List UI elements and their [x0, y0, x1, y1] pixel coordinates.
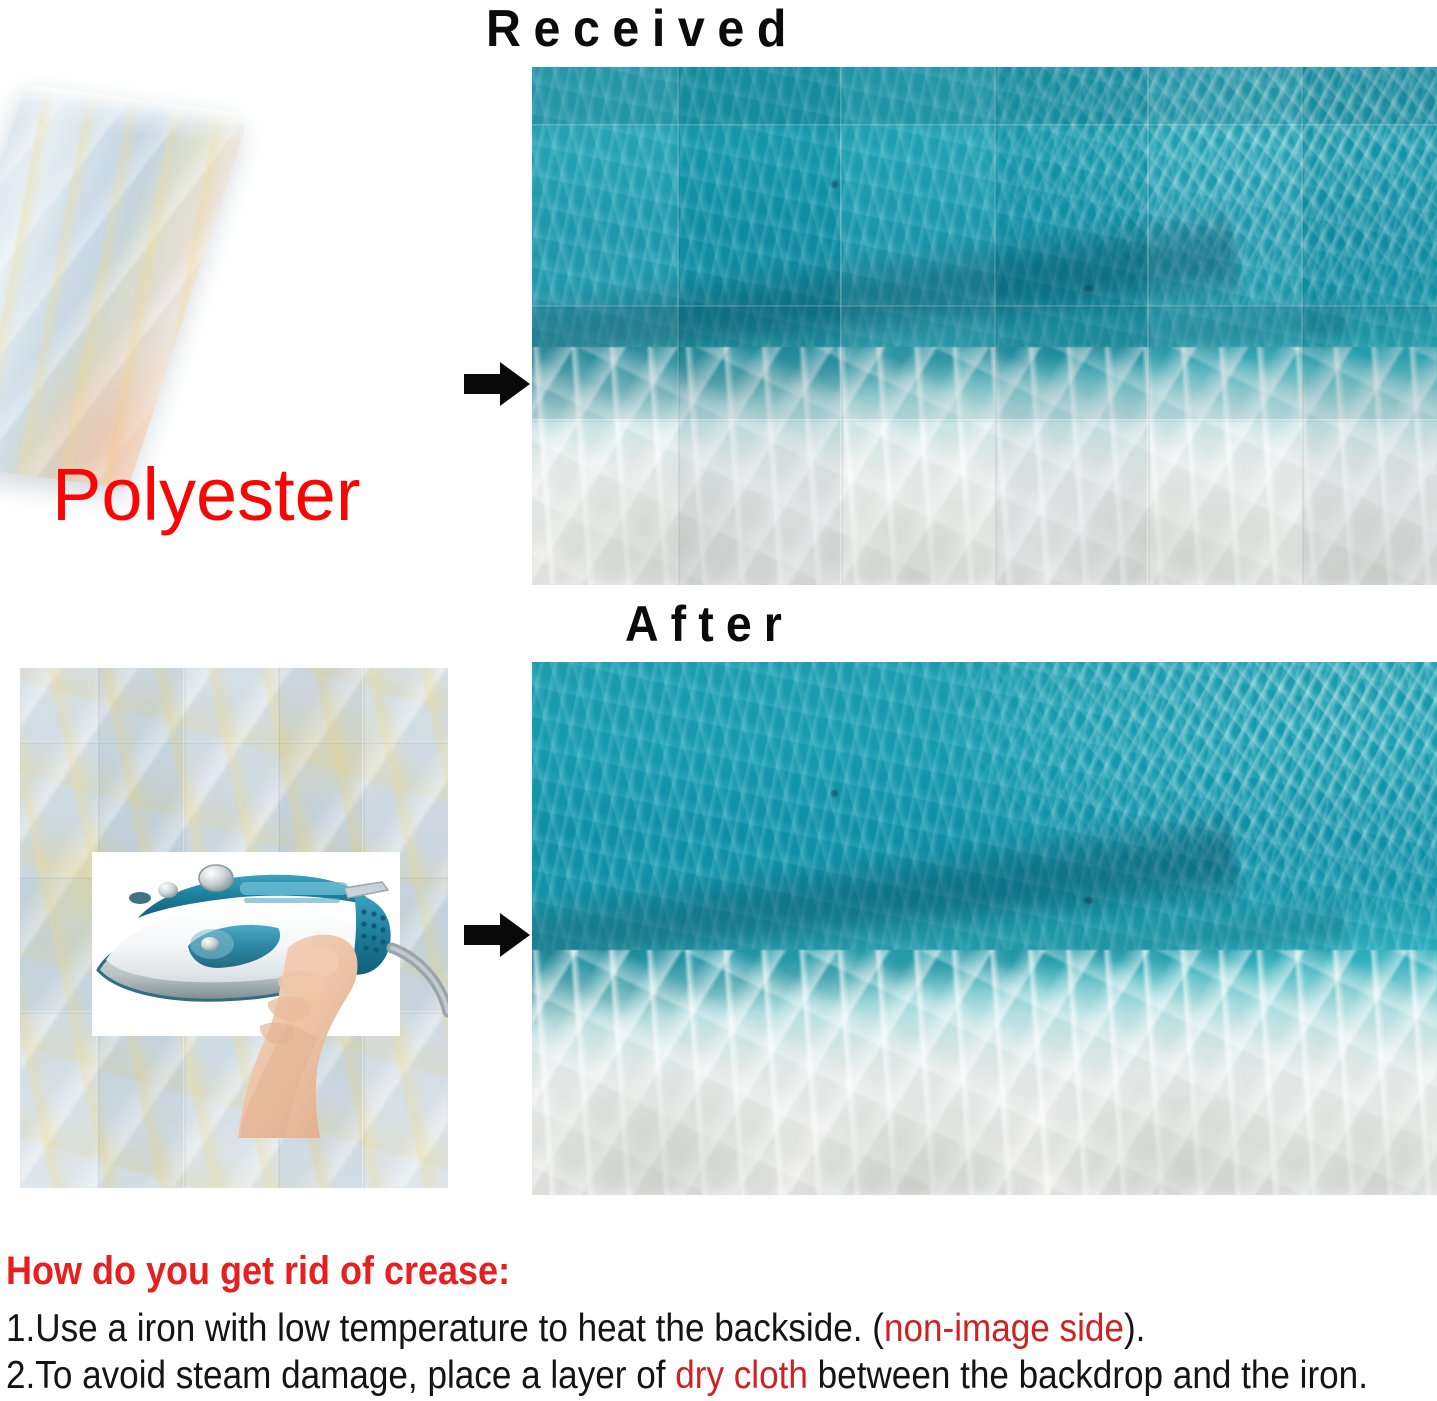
iron-illustration — [92, 852, 400, 1036]
instruction-2-suffix: between the backdrop and the iron. — [808, 1354, 1368, 1397]
iron-indicator-light — [129, 892, 151, 904]
iron-and-hand-icon — [92, 852, 400, 1112]
steam-iron-inset — [92, 852, 400, 1036]
water-speck — [831, 790, 838, 797]
fabric-sheet — [0, 84, 250, 489]
after-backdrop-photo — [532, 662, 1437, 1195]
received-heading: Received — [486, 1, 799, 57]
polyester-fabric-roll-image — [18, 78, 418, 476]
instructions-heading: How do you get rid of crease: — [6, 1248, 1289, 1294]
infographic-canvas: Received Polyester — [0, 0, 1437, 1401]
instruction-2-text: 2.To avoid steam damage, place a layer o… — [6, 1354, 675, 1397]
arrow-shaft — [464, 925, 504, 945]
iron-spray-button — [158, 882, 178, 898]
iron-steam-knob — [199, 865, 233, 891]
iron-cord-clamp — [344, 882, 388, 898]
right-arrow-icon — [464, 913, 534, 957]
instruction-line-2: 2.To avoid steam damage, place a layer o… — [6, 1353, 1289, 1398]
gold-blotch — [260, 689, 406, 803]
arrow-shaft — [464, 374, 504, 394]
arrow-head — [500, 913, 530, 957]
instruction-2-highlight: dry cloth — [675, 1354, 808, 1397]
instruction-1-highlight: non-image side — [884, 1307, 1124, 1350]
instruction-1-suffix: ). — [1124, 1307, 1145, 1350]
sand-mounds — [532, 992, 1437, 1195]
iron-handle-groove — [244, 898, 340, 903]
wrinkled-backdrop-photo — [20, 668, 448, 1188]
after-heading: After — [625, 597, 794, 651]
water-speck — [831, 181, 838, 188]
water-speck — [1084, 285, 1093, 292]
arrow-head — [500, 362, 530, 406]
instruction-1-text: 1.Use a iron with low temperature to hea… — [6, 1307, 884, 1350]
iron-handle-slot — [240, 882, 348, 895]
sand-mounds — [532, 388, 1437, 585]
polyester-material-label: Polyester — [52, 455, 360, 535]
iron-dial-cap — [201, 937, 219, 951]
right-arrow-icon — [464, 362, 534, 406]
care-instructions: How do you get rid of crease: 1.Use a ir… — [6, 1248, 1431, 1398]
water-speck — [1084, 897, 1093, 904]
instruction-line-1: 1.Use a iron with low temperature to hea… — [6, 1306, 1289, 1351]
received-backdrop-photo — [532, 67, 1437, 585]
